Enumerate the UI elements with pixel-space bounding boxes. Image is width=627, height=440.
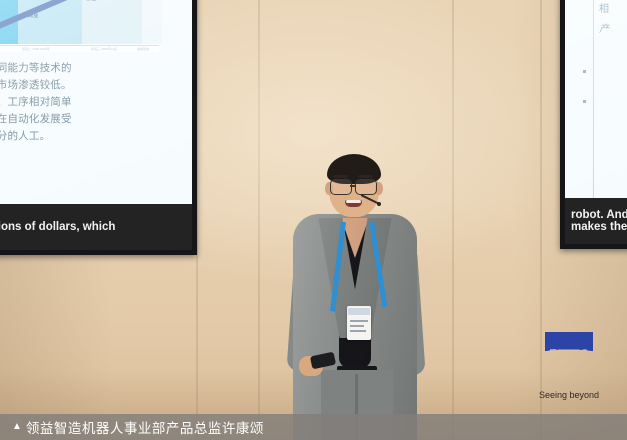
badge-line xyxy=(350,330,366,332)
caption-text: 领益智造机器人事业部产品总监许康颂 xyxy=(26,417,264,437)
zeiss-wordmark: ZEISS xyxy=(545,346,593,361)
conference-photo: 商业 家居 阶段二 2028-2030年 阶段三 2030年以后 最终形态 能力… xyxy=(0,0,627,440)
eyeglasses-bridge xyxy=(350,185,356,187)
caption-bar: ▲ 领益智造机器人事业部产品总监许康颂 xyxy=(0,414,627,440)
badge-header xyxy=(348,308,370,315)
right-subtitle-bar: robot. And makes the xyxy=(565,198,627,244)
zeiss-logo-icon: ZEISS xyxy=(545,332,593,380)
speaker xyxy=(285,148,425,440)
right-subtitle-line-1: robot. And xyxy=(565,209,627,221)
eyeglasses-lens xyxy=(330,179,352,195)
left-screen-surface: 商业 家居 阶段二 2028-2030年 阶段三 2030年以后 最终形态 能力… xyxy=(0,0,192,250)
caption-triangle-icon: ▲ xyxy=(12,422,22,432)
left-projection-screen: 商业 家居 阶段二 2028-2030年 阶段三 2030年以后 最终形态 能力… xyxy=(0,0,197,255)
right-subtitle-line-2: makes the xyxy=(565,221,627,233)
eyeglasses-lens xyxy=(355,179,377,195)
eyebrow xyxy=(333,175,348,178)
badge-line xyxy=(350,325,364,327)
right-projection-screen: 相 产 robot. And makes the xyxy=(560,0,627,249)
left-subtitle-text: as millions of dollars, which xyxy=(0,221,115,233)
zeiss-tagline: Seeing beyond xyxy=(538,390,600,400)
eyebrow xyxy=(358,175,373,178)
left-subtitle-bar: as millions of dollars, which xyxy=(0,204,192,250)
zeiss-branding: ZEISS Seeing beyond xyxy=(538,332,600,400)
right-screen-surface: 相 产 robot. And makes the xyxy=(565,0,627,244)
microphone-tip xyxy=(377,202,381,206)
teeth xyxy=(346,200,361,203)
badge-line xyxy=(350,320,368,322)
